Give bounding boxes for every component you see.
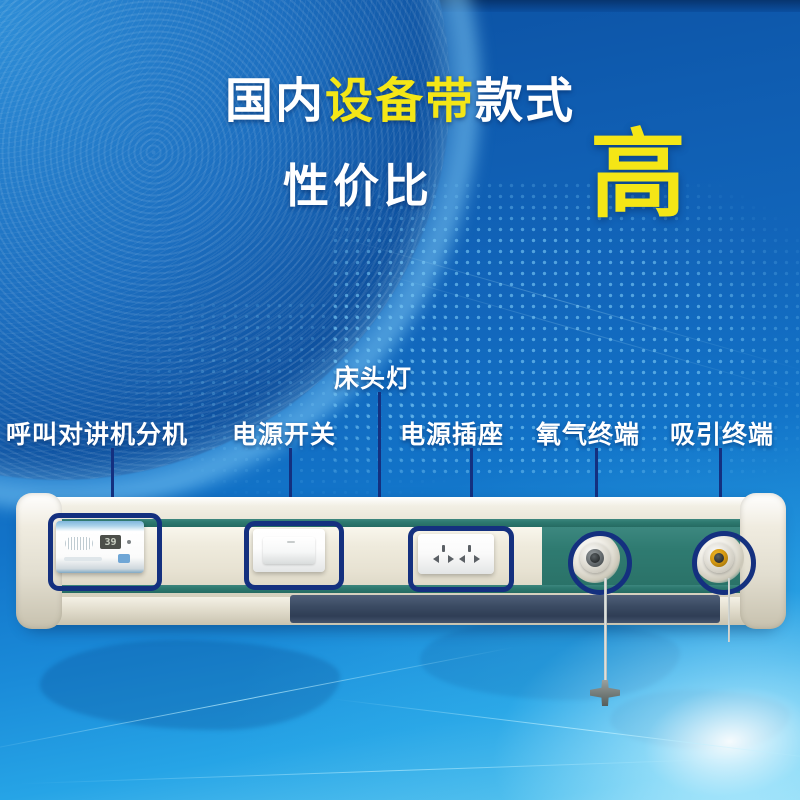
headline-part-1: 国内 [225, 75, 325, 128]
callout-label-bedlamp: 床头灯 [334, 359, 412, 395]
headline-block: 国内设备带款式 性价比 高 [0, 78, 800, 232]
panel-dark-rail [290, 595, 720, 623]
headline-highlight: 设备带 [325, 75, 475, 128]
callout-label-switch: 电源开关 [232, 415, 336, 451]
highlight-outline-socket [408, 526, 514, 592]
headline-line-1: 国内设备带款式 [0, 78, 800, 126]
pull-cord[interactable] [604, 578, 607, 686]
callout-label-oxygen: 氧气终端 [536, 415, 640, 451]
highlight-outline-switch [244, 521, 344, 590]
headline-big-word: 高 [590, 128, 686, 224]
callout-label-intercom: 呼叫对讲机分机 [6, 415, 188, 451]
highlight-outline-suction [692, 531, 756, 595]
headline-part-2: 款式 [475, 75, 575, 128]
highlight-outline-oxygen [568, 531, 632, 595]
callout-label-socket: 电源插座 [400, 415, 504, 451]
callout-label-suction: 吸引终端 [670, 415, 774, 451]
highlight-outline-intercom [48, 513, 162, 591]
headline-line-2: 性价比 [283, 150, 433, 216]
suction-drain-tube [728, 578, 730, 642]
promo-banner: 国内设备带款式 性价比 高 呼叫对讲机分机 电源开关 床头灯 电源插座 氧气终端… [0, 0, 800, 800]
